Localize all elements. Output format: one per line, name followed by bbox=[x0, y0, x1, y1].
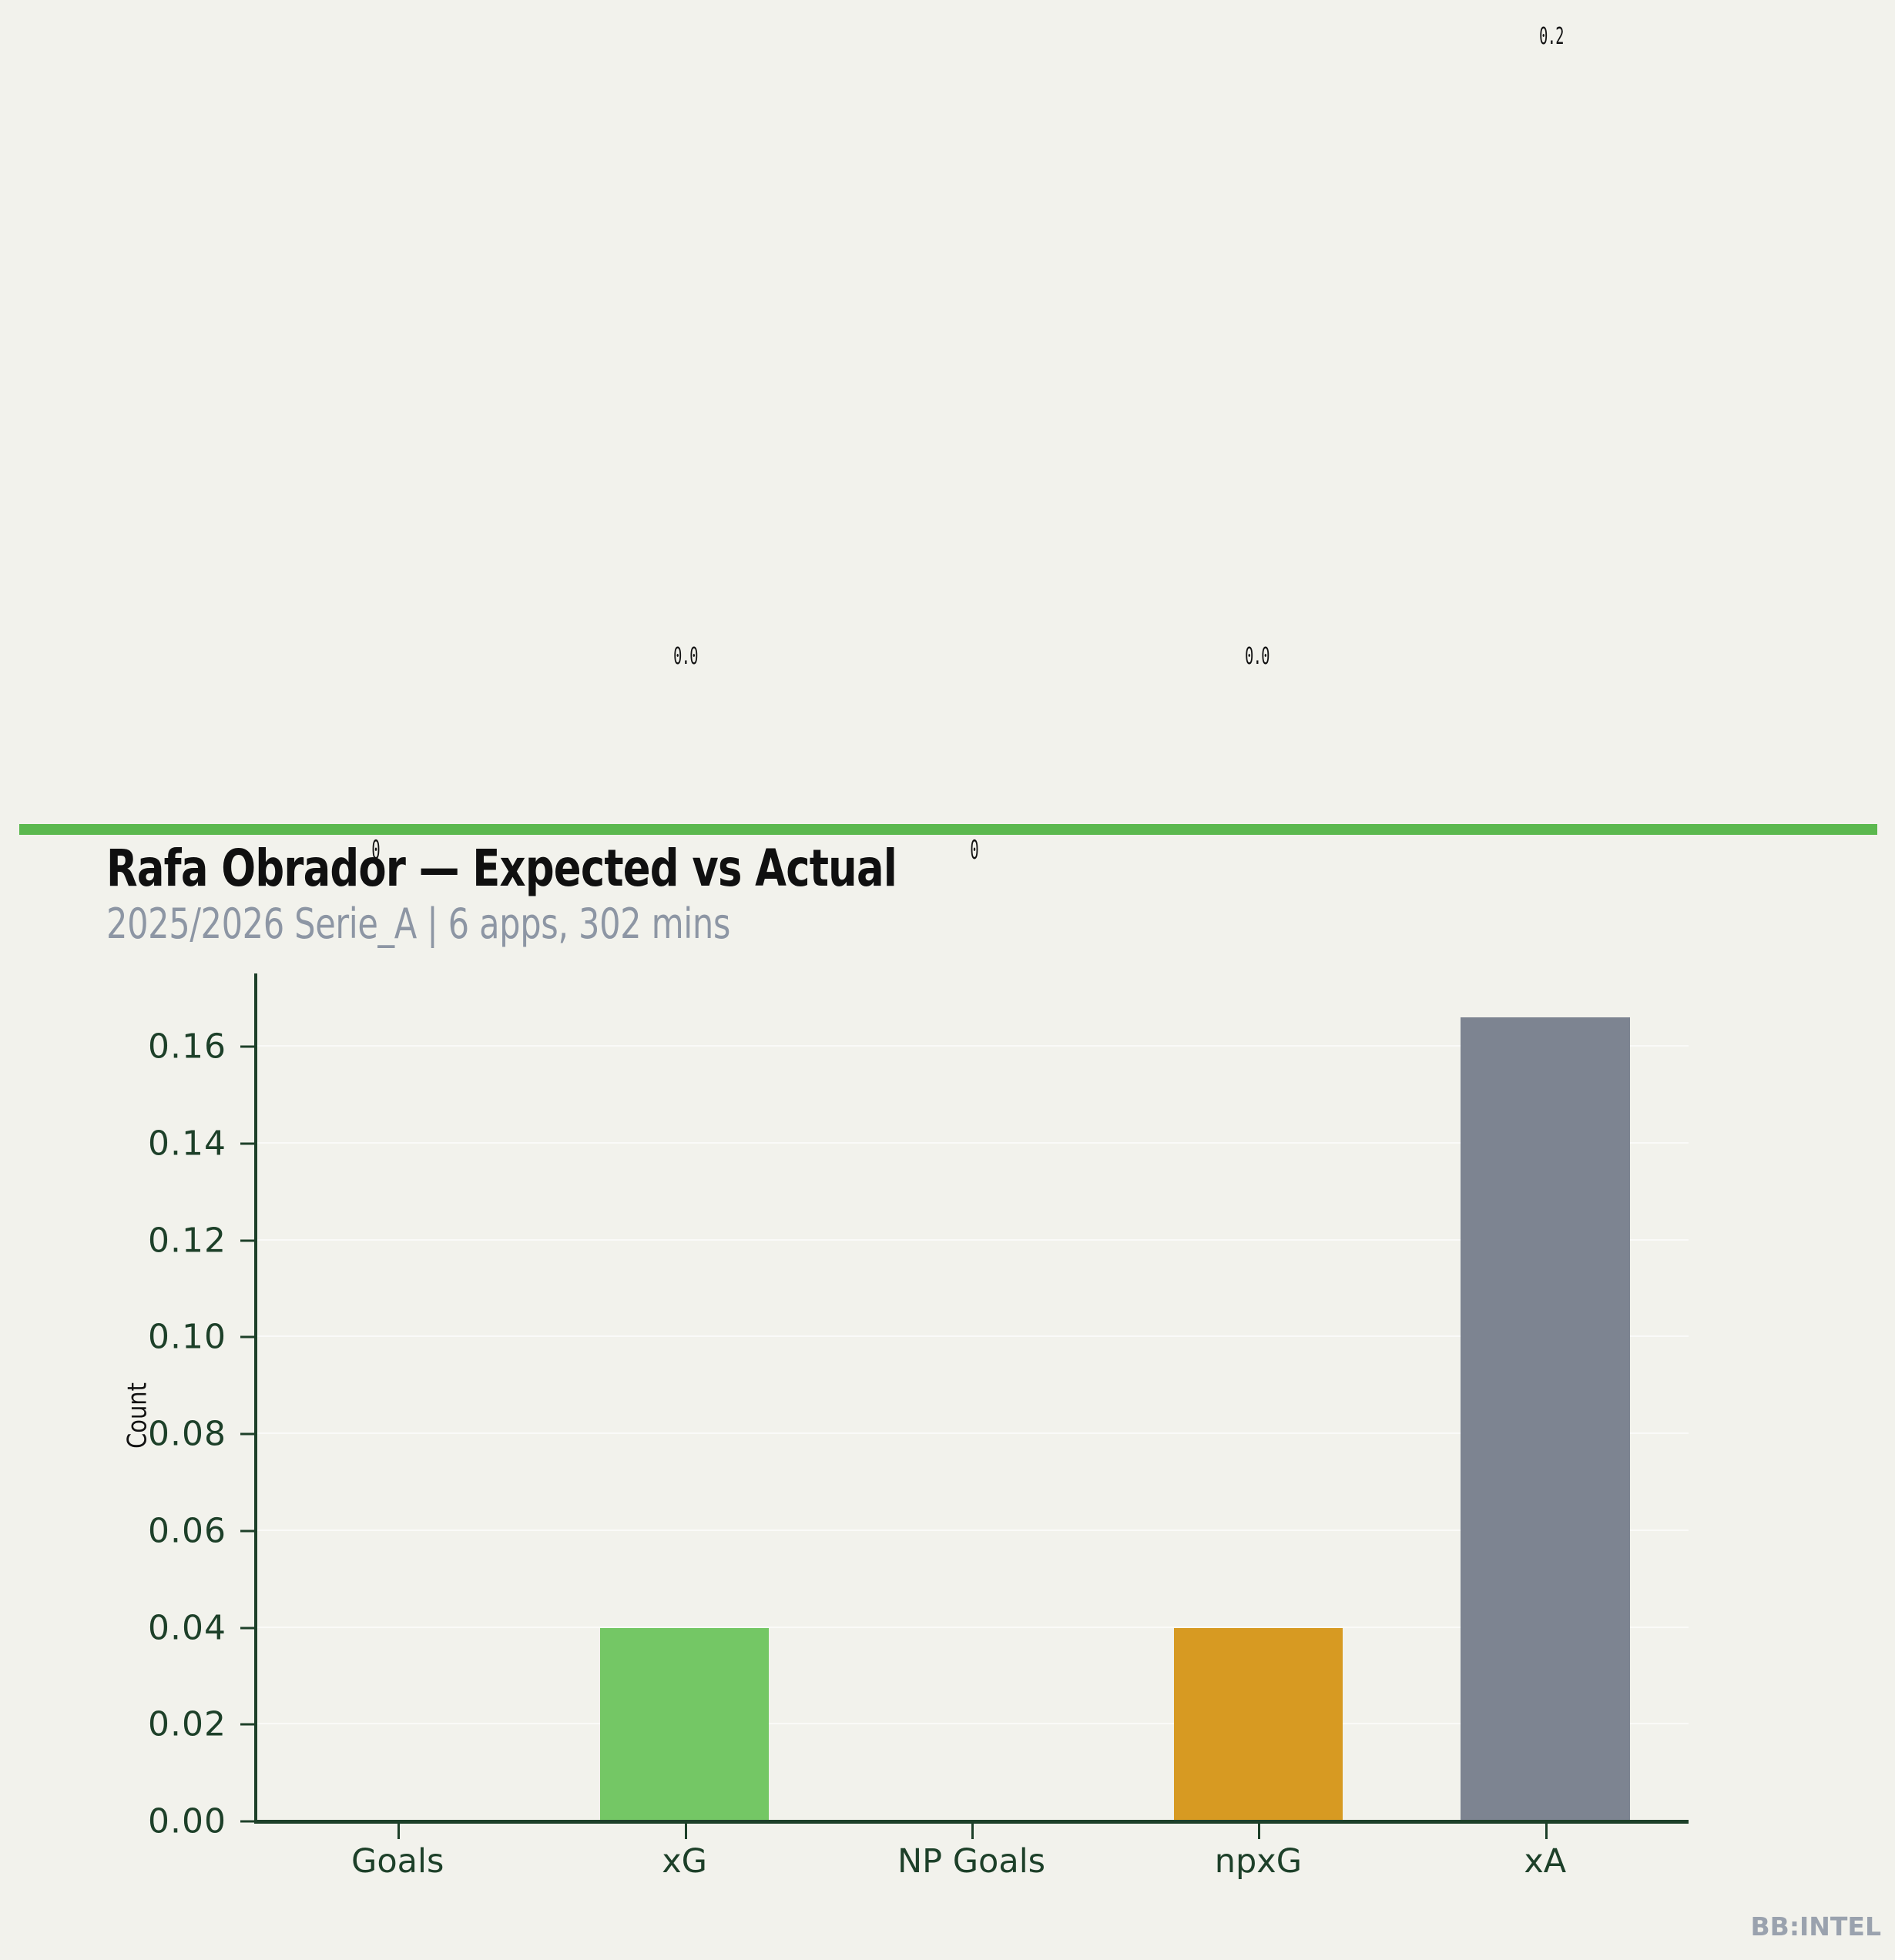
chart-subtitle: 2025/2026 Serie_A | 6 apps, 302 mins bbox=[106, 901, 897, 946]
x-axis-tick-label: npxG bbox=[1215, 1842, 1302, 1881]
y-axis-tick-mark bbox=[240, 1336, 254, 1338]
overlay-value-label: 0.0 bbox=[657, 643, 714, 670]
y-axis-tick-label: 0.04 bbox=[148, 1608, 226, 1647]
y-axis-tick-mark bbox=[240, 1821, 254, 1823]
y-axis-tick-mark bbox=[240, 1627, 254, 1629]
y-axis-tick-label: 0.14 bbox=[148, 1124, 226, 1163]
y-axis-tick-label: 0.00 bbox=[148, 1802, 226, 1841]
y-axis-tick-label: 0.12 bbox=[148, 1221, 226, 1260]
y-axis-tick-label: 0.10 bbox=[148, 1318, 226, 1357]
y-axis-tick-label: 0.06 bbox=[148, 1511, 226, 1550]
x-axis-tick-mark bbox=[1258, 1824, 1260, 1839]
y-axis-tick-label: 0.16 bbox=[148, 1027, 226, 1067]
y-axis-tick-mark bbox=[240, 1724, 254, 1726]
x-axis-tick-mark bbox=[685, 1824, 687, 1839]
y-axis-spine bbox=[254, 973, 257, 1823]
x-axis-tick-mark bbox=[397, 1824, 400, 1839]
overlay-value-label: 0.2 bbox=[1523, 23, 1580, 50]
y-axis-tick-mark bbox=[240, 1142, 254, 1144]
x-axis-tick-label: NP Goals bbox=[897, 1842, 1045, 1881]
y-axis-tick-mark bbox=[240, 1046, 254, 1048]
bar-xa[interactable] bbox=[1461, 1017, 1630, 1821]
x-axis-tick-label: xA bbox=[1524, 1842, 1566, 1881]
overlay-value-label: 0.0 bbox=[1229, 643, 1286, 670]
y-axis-tick-mark bbox=[240, 1529, 254, 1532]
x-axis-tick-label: xG bbox=[662, 1842, 707, 1881]
x-axis-tick-label: Goals bbox=[351, 1842, 444, 1881]
chart-header: Rafa Obrador — Expected vs Actual 2025/2… bbox=[106, 842, 1095, 947]
y-axis-tick-label: 0.02 bbox=[148, 1705, 226, 1744]
x-axis-tick-mark bbox=[1545, 1824, 1548, 1839]
chart-page: 0.20.00.000 Rafa Obrador — Expected vs A… bbox=[0, 0, 1895, 1960]
x-axis-tick-mark bbox=[971, 1824, 974, 1839]
y-axis-tick-mark bbox=[240, 1239, 254, 1241]
bar-xg[interactable] bbox=[600, 1628, 770, 1821]
y-axis-tick-mark bbox=[240, 1433, 254, 1436]
green-divider-band bbox=[19, 824, 1877, 835]
plot-area bbox=[254, 977, 1689, 1821]
watermark: BB:INTEL bbox=[1751, 1911, 1881, 1942]
y-axis-tick-label: 0.08 bbox=[148, 1415, 226, 1454]
bar-npxg[interactable] bbox=[1174, 1628, 1343, 1821]
page-title: Rafa Obrador — Expected vs Actual bbox=[106, 842, 897, 895]
